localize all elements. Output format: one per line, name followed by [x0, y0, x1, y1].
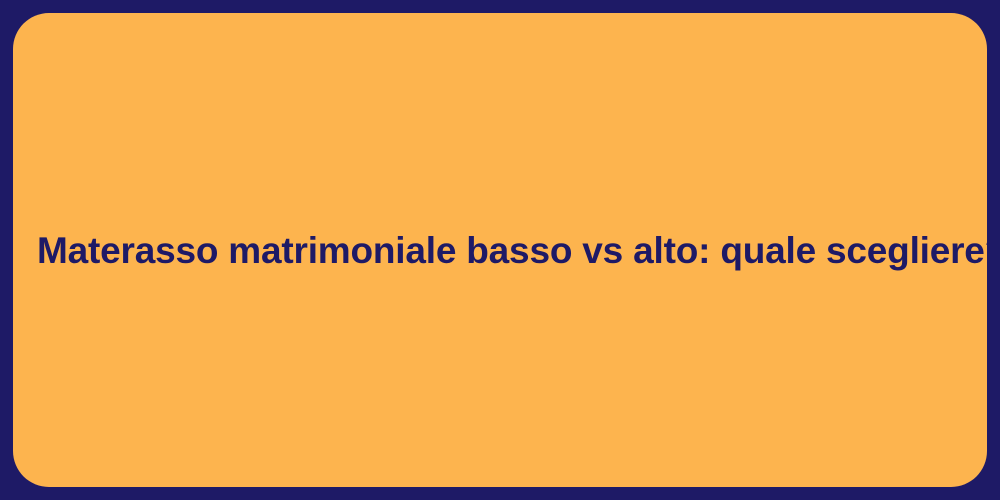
banner-frame: Materasso matrimoniale basso vs alto: qu… — [0, 0, 1000, 500]
banner-headline: Materasso matrimoniale basso vs alto: qu… — [13, 230, 987, 273]
banner-card: Materasso matrimoniale basso vs alto: qu… — [13, 13, 987, 487]
